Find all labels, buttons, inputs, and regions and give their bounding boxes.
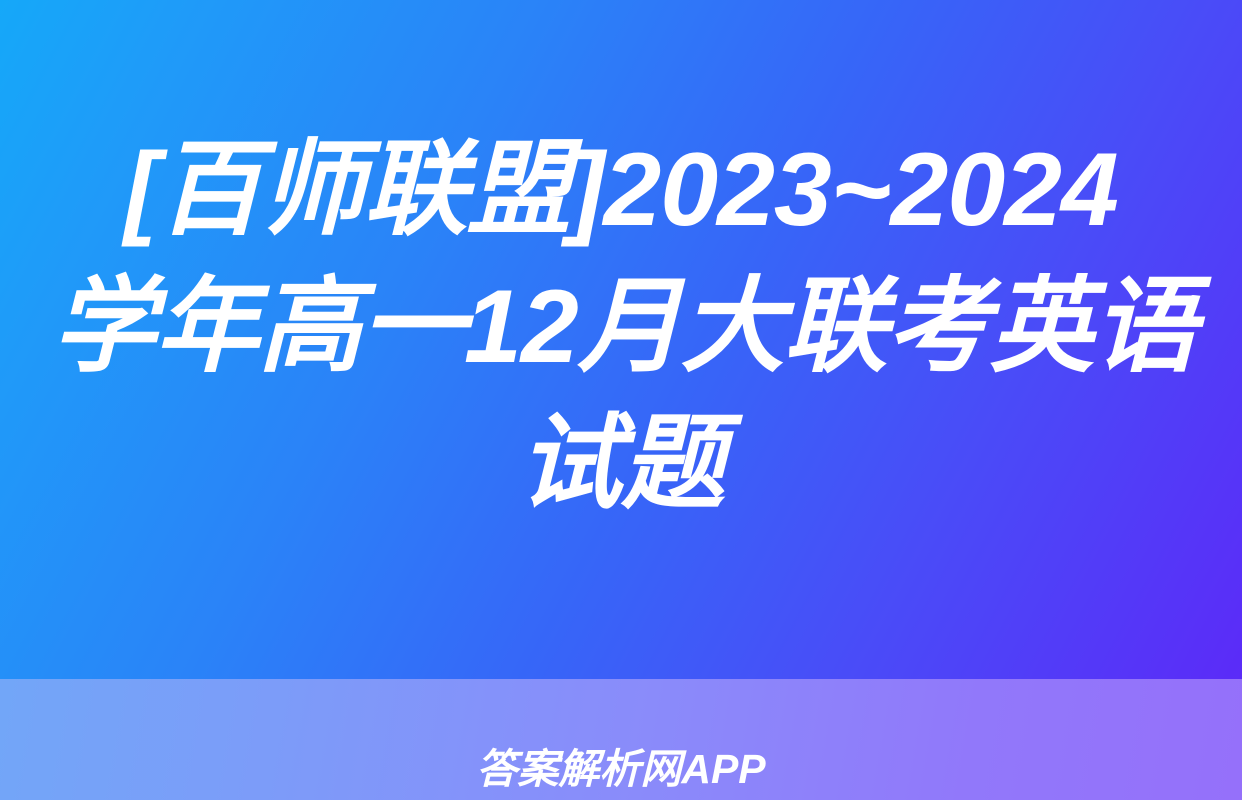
footer-watermark-band: 答案解析网APP: [0, 679, 1242, 800]
app-watermark-label: 答案解析网APP: [476, 749, 765, 790]
exam-title-line-1: [百师联盟]2023~2024: [52, 122, 1190, 259]
exam-title-line-2: 学年高一12月大联考英语: [52, 259, 1190, 396]
exam-title-block: [百师联盟]2023~2024 学年高一12月大联考英语 试题: [0, 0, 1242, 679]
exam-title-line-3: 试题: [52, 396, 1190, 533]
exam-cover-card: [百师联盟]2023~2024 学年高一12月大联考英语 试题 答案解析网APP: [0, 0, 1242, 800]
